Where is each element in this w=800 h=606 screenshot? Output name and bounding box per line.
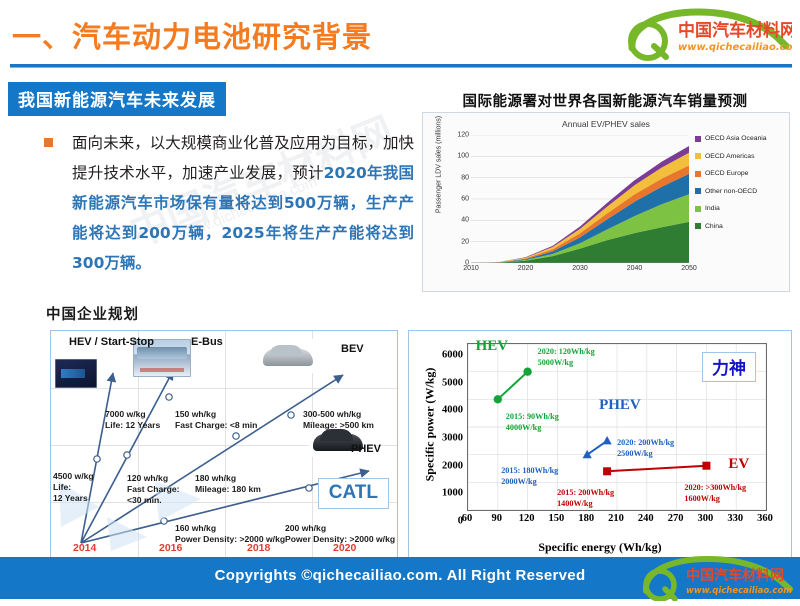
- legend-label: OECD Asia Oceania: [705, 135, 767, 142]
- roadmap-category-bev: BEV: [341, 343, 364, 355]
- scatter-point-annotation: 2020: >300Wh/kg1600W/kg: [684, 482, 746, 504]
- roadmap-note-line: 160 wh/kg: [175, 523, 216, 533]
- area-chart-subtitle: Annual EV/PHEV sales: [423, 119, 789, 129]
- brand-logo: 中国汽车材料网 www.qichecailiao.com: [620, 8, 792, 62]
- roadmap-note-line: <30 min.: [127, 495, 162, 505]
- area-xtick: 2050: [681, 265, 697, 272]
- section-badge: 我国新能源汽车未来发展: [8, 82, 226, 116]
- scatter-xtick: 240: [638, 513, 654, 524]
- area-legend-item: OECD Americas: [695, 153, 791, 160]
- legend-swatch: [695, 206, 701, 212]
- scatter-plot: 力神 HEV2015: 90Wh/kg4000W/kg2020: 120Wh/k…: [467, 343, 767, 511]
- legend-swatch: [695, 136, 701, 142]
- roadmap-category-hev: HEV / Start-Stop: [69, 336, 154, 348]
- scatter-ytick: 3000: [442, 433, 463, 444]
- lishen-brand-badge: 力神: [702, 352, 756, 382]
- area-legend-item: OECD Asia Oceania: [695, 135, 791, 142]
- scatter-point-annotation: 2020: 120Wh/kg5000W/kg: [538, 346, 595, 368]
- bev-sedan-photo: [259, 339, 317, 373]
- roadmap-note-line: Life:: [53, 482, 71, 492]
- slide-header: 一、汽车动力电池研究背景 中国汽车材料网 www.qichecailiao.co…: [0, 0, 800, 66]
- svg-text:www.qichecailiao.com: www.qichecailiao.com: [686, 586, 792, 596]
- scatter-xtick: 60: [462, 513, 473, 524]
- area-chart-title: 国际能源署对世界各国新能源汽车销量预测: [412, 90, 798, 111]
- scatter-xtick: 330: [727, 513, 743, 524]
- svg-text:www.qichecailiao.com: www.qichecailiao.com: [678, 42, 792, 53]
- area-xtick: 2010: [463, 265, 479, 272]
- annotation-line: 1600W/kg: [684, 494, 720, 503]
- annotation-line: 2020: >300Wh/kg: [684, 483, 746, 492]
- scatter-point-annotation: 2015: 90Wh/kg4000W/kg: [506, 411, 559, 433]
- scatter-point-annotation: 2020: 200Wh/kg2500W/kg: [617, 437, 674, 459]
- scatter-ytick: 1000: [442, 488, 463, 499]
- legend-label: India: [705, 205, 720, 212]
- catl-brand-badge: CATL: [318, 478, 389, 509]
- bullet-paragraph: 面向未来，以大规模商业化普及应用为目标，加快提升技术水平，加速产业发展，预计20…: [72, 128, 414, 278]
- area-chart: Annual EV/PHEV sales Passenger LDV sales…: [422, 112, 790, 292]
- roadmap-note-line: Fast Charge: <8 min: [175, 420, 257, 430]
- scatter-xtick: 90: [492, 513, 503, 524]
- area-xtick: 2040: [627, 265, 643, 272]
- roadmap-note-0: 4500 w/kgLife:12 Years: [53, 471, 94, 504]
- roadmap-year-2016: 2016: [159, 542, 182, 554]
- area-xtick: 2030: [572, 265, 588, 272]
- legend-label: OECD Europe: [705, 170, 748, 177]
- roadmap-note-line: 12 Years: [53, 493, 88, 503]
- scatter-ytick: 5000: [442, 377, 463, 388]
- roadmap-note-2: 150 wh/kgFast Charge: <8 min: [175, 409, 257, 431]
- scatter-chart: Specific power (W/kg) Specific energy (W…: [408, 330, 792, 558]
- annotation-line: 5000W/kg: [538, 358, 574, 367]
- area-ytick: 60: [461, 196, 469, 203]
- area-ytick: 80: [461, 174, 469, 181]
- bullet-text-plain-2: 。: [135, 254, 151, 272]
- roadmap-note-5: 180 wh/kgMileage: 180 km: [195, 473, 261, 495]
- area-legend-item: China: [695, 223, 791, 230]
- roadmap-note-line: Mileage: 180 km: [195, 484, 261, 494]
- footer-bar: Copyrights ©qichecailiao.com. All Right …: [0, 557, 800, 599]
- area-chart-xticks: 20102020203020402050: [471, 265, 689, 277]
- legend-swatch: [695, 223, 701, 229]
- subsection-label: 中国企业规划: [46, 303, 139, 324]
- roadmap-note-line: 150 wh/kg: [175, 409, 216, 419]
- scatter-point-annotation: 2015: 200Wh/kg1400W/kg: [557, 487, 614, 509]
- scatter-series-label-phev: PHEV: [599, 397, 641, 414]
- legend-label: OECD Americas: [705, 153, 754, 160]
- bullet-marker-icon: [44, 138, 53, 147]
- legend-label: Other non-OECD: [705, 188, 757, 195]
- roadmap-category-phev: PHEV: [351, 443, 381, 455]
- roadmap-note-line: 4500 w/kg: [53, 471, 94, 481]
- bullet-block: 面向未来，以大规模商业化普及应用为目标，加快提升技术水平，加速产业发展，预计20…: [44, 128, 414, 278]
- roadmap-note-line: 300-500 wh/kg: [303, 409, 361, 419]
- area-xtick: 2020: [518, 265, 534, 272]
- area-ytick: 40: [461, 217, 469, 224]
- scatter-yticks: 0100020003000400050006000: [433, 343, 463, 511]
- legend-swatch: [695, 153, 701, 159]
- scatter-xtick: 210: [608, 513, 624, 524]
- roadmap-note-line: 7000 w/kg: [105, 409, 146, 419]
- roadmap-note-line: 200 wh/kg: [285, 523, 326, 533]
- area-legend-item: OECD Europe: [695, 170, 791, 177]
- slide: 一、汽车动力电池研究背景 中国汽车材料网 www.qichecailiao.co…: [0, 0, 800, 599]
- scatter-xtick: 300: [698, 513, 714, 524]
- roadmap-note-line: Fast Charge:: [127, 484, 180, 494]
- legend-label: China: [705, 223, 723, 230]
- roadmap-note-line: 120 wh/kg: [127, 473, 168, 483]
- battery-module-photo: [55, 359, 97, 388]
- scatter-xtick: 180: [578, 513, 594, 524]
- area-chart-yticks: 020406080100120: [441, 135, 469, 263]
- svg-text:中国汽车材料网: 中国汽车材料网: [686, 567, 784, 584]
- annotation-line: 2015: 180Wh/kg: [501, 466, 558, 475]
- scatter-ytick: 2000: [442, 460, 463, 471]
- legend-swatch: [695, 188, 701, 194]
- roadmap-year-2020: 2020: [333, 542, 356, 554]
- annotation-line: 4000W/kg: [506, 423, 542, 432]
- area-chart-plot: [471, 135, 689, 263]
- roadmap-note-1: 7000 w/kgLife: 12 Years: [105, 409, 160, 431]
- roadmap-category-ebus: E-Bus: [191, 336, 223, 348]
- annotation-line: 2020: 120Wh/kg: [538, 347, 595, 356]
- scatter-xtick: 120: [519, 513, 535, 524]
- annotation-line: 2500W/kg: [617, 449, 653, 458]
- scatter-ytick: 4000: [442, 405, 463, 416]
- annotation-line: 1400W/kg: [557, 499, 593, 508]
- roadmap-diagram: HEV / Start-Stop E-Bus BEV PHEV 4500 w/k…: [50, 330, 398, 558]
- scatter-series-label-ev: EV: [728, 456, 749, 473]
- annotation-line: 2000W/kg: [501, 477, 537, 486]
- roadmap-note-line: Mileage: >500 km: [303, 420, 374, 430]
- scatter-series-label-hev: HEV: [476, 338, 509, 355]
- scatter-xlabel: Specific energy (Wh/kg): [409, 540, 791, 555]
- page-title: 一、汽车动力电池研究背景: [12, 14, 372, 56]
- area-ytick: 20: [461, 238, 469, 245]
- scatter-xtick: 360: [757, 513, 773, 524]
- scatter-xtick: 270: [668, 513, 684, 524]
- roadmap-note-3: 300-500 wh/kgMileage: >500 km: [303, 409, 374, 431]
- annotation-line: 2020: 200Wh/kg: [617, 438, 674, 447]
- area-ytick: 100: [457, 153, 469, 160]
- scatter-point-annotation: 2015: 180Wh/kg2000W/kg: [501, 465, 558, 487]
- scatter-xtick: 150: [549, 513, 565, 524]
- roadmap-year-2018: 2018: [247, 542, 270, 554]
- annotation-line: 2015: 200Wh/kg: [557, 488, 614, 497]
- svg-text:中国汽车材料网: 中国汽车材料网: [678, 20, 792, 41]
- legend-swatch: [695, 171, 701, 177]
- header-rule-secondary: [10, 67, 792, 68]
- scatter-xticks: 6090120150180210240270300330360: [467, 513, 767, 527]
- roadmap-year-2014: 2014: [73, 542, 96, 554]
- roadmap-note-line: Life: 12 Years: [105, 420, 160, 430]
- roadmap-note-4: 120 wh/kgFast Charge:<30 min.: [127, 473, 180, 506]
- area-ytick: 120: [457, 132, 469, 139]
- annotation-line: 2015: 90Wh/kg: [506, 412, 559, 421]
- area-legend-item: Other non-OECD: [695, 188, 791, 195]
- footer-logo: 中国汽车材料网 www.qichecailiao.com: [636, 555, 796, 601]
- scatter-ytick: 6000: [442, 350, 463, 361]
- area-chart-legend: OECD Asia OceaniaOECD AmericasOECD Europ…: [695, 135, 791, 240]
- roadmap-note-line: 180 wh/kg: [195, 473, 236, 483]
- area-legend-item: India: [695, 205, 791, 212]
